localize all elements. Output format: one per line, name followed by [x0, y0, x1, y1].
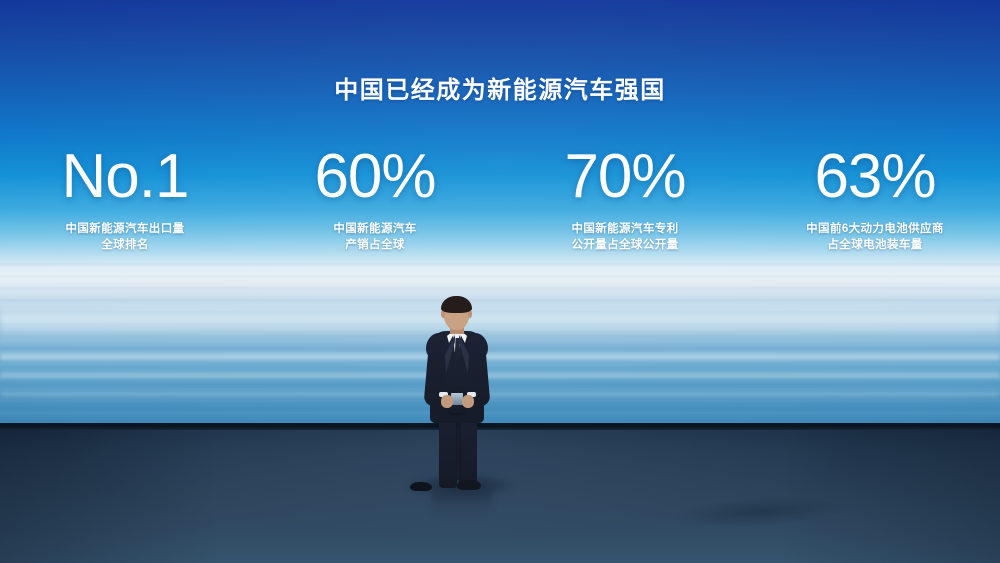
presenter-reflection: [432, 492, 492, 518]
stat-caption-line: 中国新能源汽车出口量: [0, 221, 250, 237]
stat-block-3: 70% 中国新能源汽车专利 公开量占全球公开量: [500, 146, 750, 253]
stat-block-4: 63% 中国前6大动力电池供应商 占全球电池装车量: [750, 146, 1000, 253]
presenter-glasses: [444, 310, 469, 317]
stat-row: No.1 中国新能源汽车出口量 全球排名 60% 中国新能源汽车 产销占全球 7…: [0, 146, 1000, 253]
stat-value: 60%: [250, 146, 500, 208]
stat-caption-line: 全球排名: [0, 237, 250, 253]
stat-value: 63%: [750, 146, 1000, 208]
presenter-shoe-left: [410, 482, 432, 491]
presenter-hand-left: [441, 395, 453, 408]
presentation-stage-scene: 中国已经成为新能源汽车强国 No.1 中国新能源汽车出口量 全球排名 60% 中…: [0, 0, 1000, 563]
presenter-leg-left: [439, 416, 457, 488]
stat-caption-line: 公开量占全球公开量: [500, 237, 750, 253]
stat-caption-line: 占全球电池装车量: [750, 237, 1000, 253]
stat-caption-line: 产销占全球: [250, 237, 500, 253]
stat-caption-line: 中国新能源汽车专利: [500, 221, 750, 237]
stat-caption: 中国新能源汽车专利 公开量占全球公开量: [500, 221, 750, 253]
presenter-legs: [438, 416, 478, 488]
stat-caption-line: 中国前6大动力电池供应商: [750, 221, 1000, 237]
slide-title: 中国已经成为新能源汽车强国: [0, 70, 1000, 105]
stat-block-2: 60% 中国新能源汽车 产销占全球: [250, 146, 500, 253]
presenter: [412, 296, 502, 496]
presenter-trouser-gap: [456, 420, 461, 480]
presenter-shoe-right: [457, 480, 481, 490]
stat-caption: 中国新能源汽车 产销占全球: [250, 221, 500, 253]
stat-caption: 中国新能源汽车出口量 全球排名: [0, 221, 250, 253]
stat-caption: 中国前6大动力电池供应商 占全球电池装车量: [750, 221, 1000, 253]
presenter-hand-right: [462, 395, 474, 408]
stat-caption-line: 中国新能源汽车: [250, 221, 500, 237]
stat-value: 70%: [500, 146, 750, 208]
presenter-leg-right: [459, 416, 477, 488]
stat-value: No.1: [0, 146, 250, 208]
stat-block-1: No.1 中国新能源汽车出口量 全球排名: [0, 146, 250, 253]
